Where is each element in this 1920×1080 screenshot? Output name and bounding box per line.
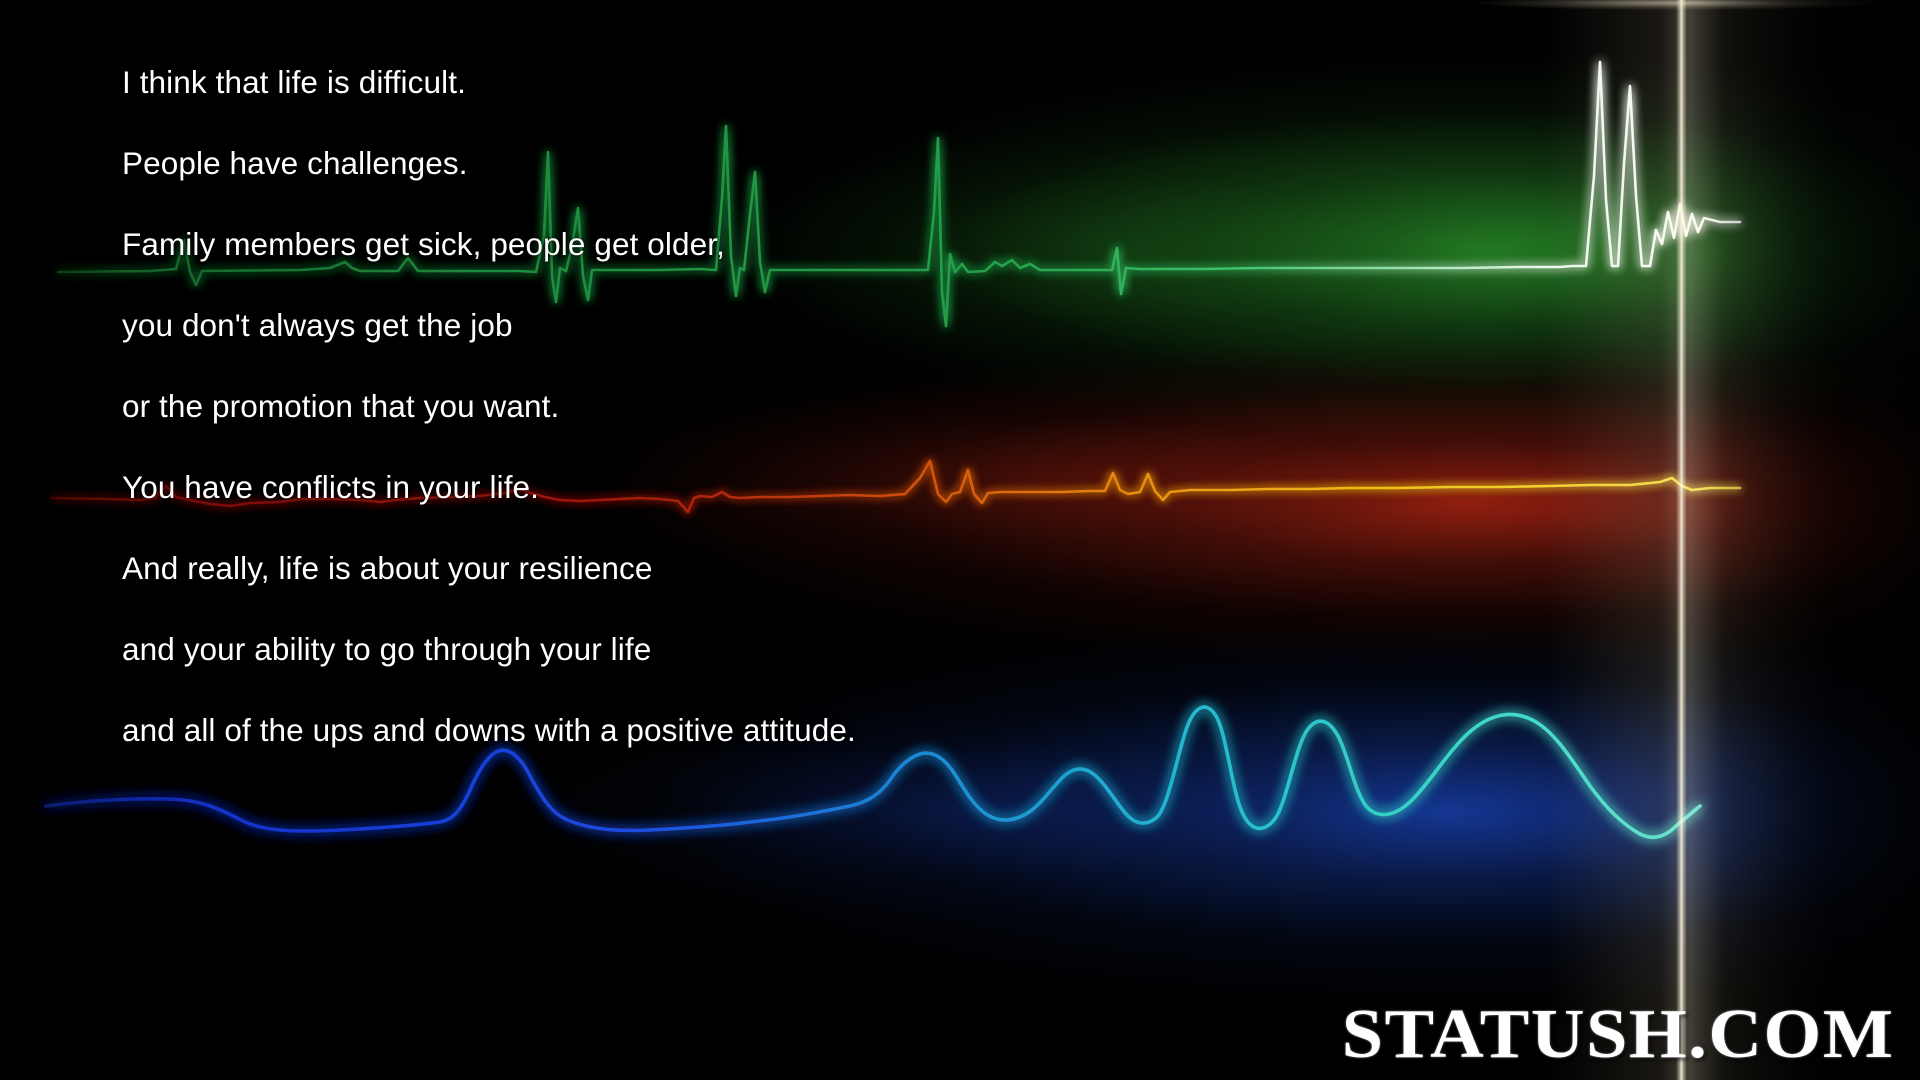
quote-line: People have challenges. bbox=[122, 123, 1462, 204]
quote-line: Family members get sick, people get olde… bbox=[122, 204, 1462, 285]
beam-top-flare bbox=[1380, 0, 1920, 14]
quote-line: And really, life is about your resilienc… bbox=[122, 528, 1462, 609]
quote-line: You have conflicts in your life. bbox=[122, 447, 1462, 528]
right-vignette bbox=[1700, 0, 1920, 1080]
quote-text-block: I think that life is difficult. People h… bbox=[122, 42, 1462, 771]
light-beam-halo bbox=[1545, 0, 1835, 1080]
quote-image-canvas: I think that life is difficult. People h… bbox=[0, 0, 1920, 1080]
quote-line: or the promotion that you want. bbox=[122, 366, 1462, 447]
quote-line: I think that life is difficult. bbox=[122, 42, 1462, 123]
quote-line: and your ability to go through your life bbox=[122, 609, 1462, 690]
watermark-logo: STATUSH.COM bbox=[1341, 1000, 1894, 1070]
quote-line: you don't always get the job bbox=[122, 285, 1462, 366]
vertical-light-beam bbox=[1676, 0, 1687, 1080]
quote-line: and all of the ups and downs with a posi… bbox=[122, 690, 1462, 771]
